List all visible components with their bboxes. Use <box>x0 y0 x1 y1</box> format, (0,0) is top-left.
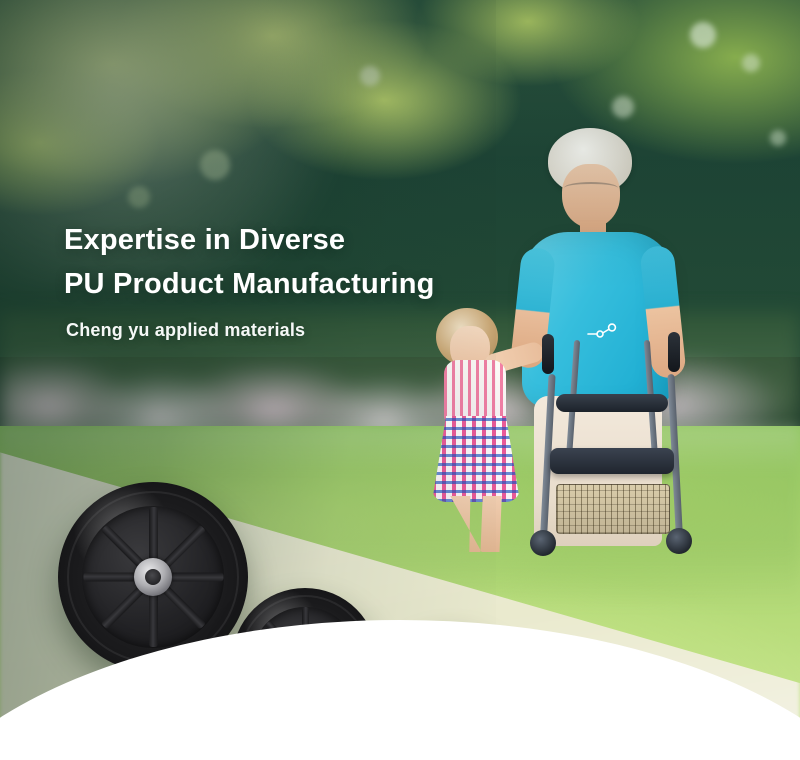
rollator-wheel <box>666 528 692 554</box>
headline-line-1: Expertise in Diverse <box>64 218 584 262</box>
large-wheel-axle-hole <box>145 569 161 585</box>
hero-copy: Expertise in Diverse PU Product Manufact… <box>64 218 584 341</box>
rollator-seat <box>550 448 674 474</box>
rollator-basket <box>556 484 670 534</box>
rollator-wheel <box>530 530 556 556</box>
rollator-walker <box>516 334 706 550</box>
rollator-handle-right <box>668 332 680 372</box>
headline-line-2: PU Product Manufacturing <box>64 262 435 306</box>
headline-line-2-wrap: PU Product Manufacturing <box>64 262 584 306</box>
hero-banner: Expertise in Diverse PU Product Manufact… <box>0 0 800 760</box>
sub-headline: Cheng yu applied materials <box>66 320 584 341</box>
rollator-backrest <box>556 394 668 412</box>
